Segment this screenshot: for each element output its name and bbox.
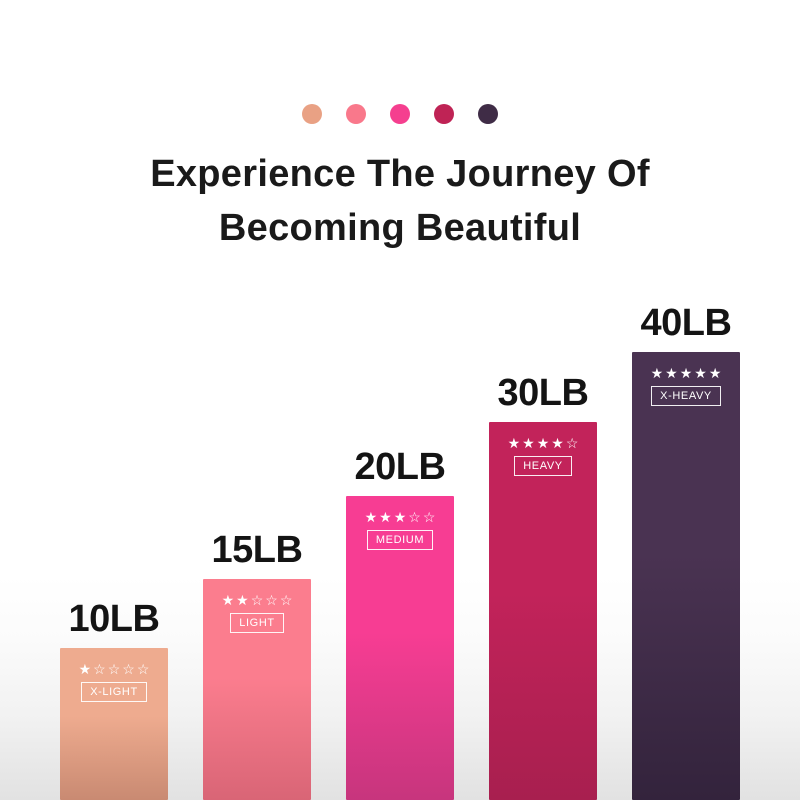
dot-x-heavy xyxy=(478,104,498,124)
resistance-level-label: X-LIGHT xyxy=(81,682,147,702)
bar-badge: ★★★☆☆MEDIUM xyxy=(346,510,454,550)
page-title: Experience The Journey Of Becoming Beaut… xyxy=(0,148,800,256)
star-filled-icon: ★ xyxy=(551,436,564,450)
star-filled-icon: ★ xyxy=(222,593,235,607)
bar-weight-label: 40LB xyxy=(641,304,732,342)
resistance-level-label: X-HEAVY xyxy=(651,386,721,406)
star-filled-icon: ★ xyxy=(680,366,693,380)
bar-column-medium[interactable]: 20LB★★★☆☆MEDIUM xyxy=(346,448,454,800)
bar-badge: ★★★★☆HEAVY xyxy=(489,436,597,476)
bar-body[interactable]: ★★★★☆HEAVY xyxy=(489,422,597,800)
star-empty-icon: ☆ xyxy=(280,593,293,607)
star-empty-icon: ☆ xyxy=(408,510,421,524)
star-filled-icon: ★ xyxy=(79,662,92,676)
bar-weight-label: 15LB xyxy=(212,531,303,569)
resistance-level-label: LIGHT xyxy=(230,613,283,633)
resistance-band-infographic: Experience The Journey Of Becoming Beaut… xyxy=(0,0,800,800)
bar-weight-label: 30LB xyxy=(498,374,589,412)
star-filled-icon: ★ xyxy=(508,436,521,450)
star-filled-icon: ★ xyxy=(394,510,407,524)
star-empty-icon: ☆ xyxy=(566,436,579,450)
star-empty-icon: ☆ xyxy=(108,662,121,676)
bar-badge: ★★☆☆☆LIGHT xyxy=(203,593,311,633)
bar-body[interactable]: ★☆☆☆☆X-LIGHT xyxy=(60,648,168,800)
star-filled-icon: ★ xyxy=(709,366,722,380)
star-filled-icon: ★ xyxy=(537,436,550,450)
bar-column-x-heavy[interactable]: 40LB★★★★★X-HEAVY xyxy=(632,304,740,800)
dot-heavy xyxy=(434,104,454,124)
resistance-level-label: HEAVY xyxy=(514,456,571,476)
star-empty-icon: ☆ xyxy=(251,593,264,607)
star-filled-icon: ★ xyxy=(522,436,535,450)
star-filled-icon: ★ xyxy=(365,510,378,524)
page-title-line-2: Becoming Beautiful xyxy=(0,202,800,256)
bar-badge: ★☆☆☆☆X-LIGHT xyxy=(60,662,168,702)
bar-column-light[interactable]: 15LB★★☆☆☆LIGHT xyxy=(203,531,311,800)
dot-x-light xyxy=(302,104,322,124)
star-rating: ★★★★★ xyxy=(651,366,722,380)
bar-weight-label: 20LB xyxy=(355,448,446,486)
bar-body[interactable]: ★★☆☆☆LIGHT xyxy=(203,579,311,800)
star-empty-icon: ☆ xyxy=(265,593,278,607)
bar-weight-label: 10LB xyxy=(69,600,160,638)
star-empty-icon: ☆ xyxy=(423,510,436,524)
bar-column-x-light[interactable]: 10LB★☆☆☆☆X-LIGHT xyxy=(60,600,168,800)
star-filled-icon: ★ xyxy=(694,366,707,380)
star-rating: ★★☆☆☆ xyxy=(222,593,293,607)
dot-medium xyxy=(390,104,410,124)
star-rating: ★☆☆☆☆ xyxy=(79,662,150,676)
star-filled-icon: ★ xyxy=(379,510,392,524)
star-empty-icon: ☆ xyxy=(137,662,150,676)
resistance-level-label: MEDIUM xyxy=(367,530,433,550)
star-rating: ★★★☆☆ xyxy=(365,510,436,524)
star-empty-icon: ☆ xyxy=(93,662,106,676)
dot-light xyxy=(346,104,366,124)
color-swatch-row xyxy=(0,104,800,124)
bar-chart: 10LB★☆☆☆☆X-LIGHT15LB★★☆☆☆LIGHT20LB★★★☆☆M… xyxy=(0,280,800,800)
bar-badge: ★★★★★X-HEAVY xyxy=(632,366,740,406)
star-filled-icon: ★ xyxy=(236,593,249,607)
bar-column-heavy[interactable]: 30LB★★★★☆HEAVY xyxy=(489,374,597,800)
bar-body[interactable]: ★★★★★X-HEAVY xyxy=(632,352,740,800)
page-title-line-1: Experience The Journey Of xyxy=(0,148,800,202)
star-rating: ★★★★☆ xyxy=(508,436,579,450)
star-filled-icon: ★ xyxy=(651,366,664,380)
star-filled-icon: ★ xyxy=(665,366,678,380)
star-empty-icon: ☆ xyxy=(122,662,135,676)
bar-body[interactable]: ★★★☆☆MEDIUM xyxy=(346,496,454,800)
